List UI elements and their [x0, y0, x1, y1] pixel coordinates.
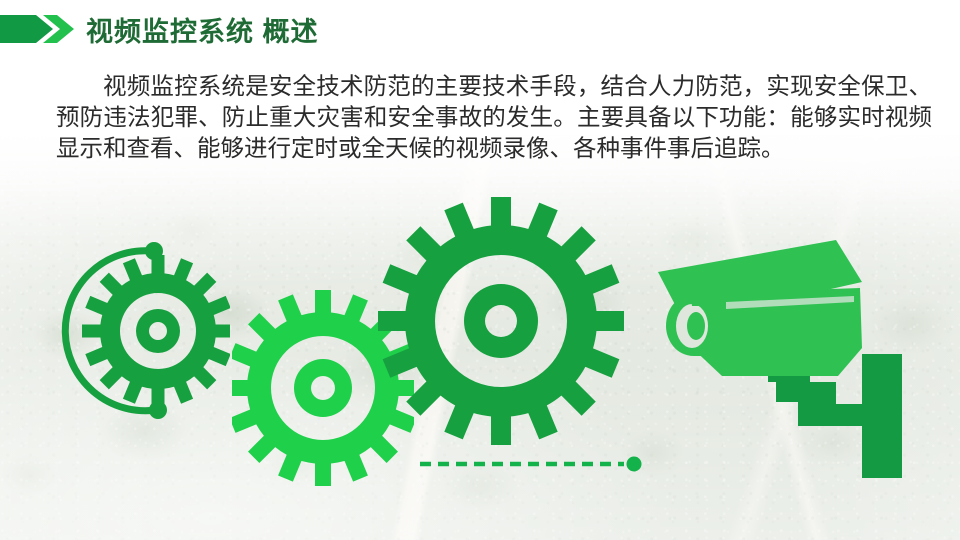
slide-root: 视频监控系统 概述 视频监控系统是安全技术防范的主要技术手段，结合人力防范，实现…	[0, 0, 960, 540]
slide-header: 视频监控系统 概述	[0, 8, 319, 50]
body-paragraph: 视频监控系统是安全技术防范的主要技术手段，结合人力防范，实现安全保卫、预防违法犯…	[56, 72, 932, 165]
chevron-arrow-solid-icon	[0, 15, 53, 43]
header-arrow-group	[0, 8, 74, 50]
page-title: 视频监控系统 概述	[86, 10, 319, 49]
